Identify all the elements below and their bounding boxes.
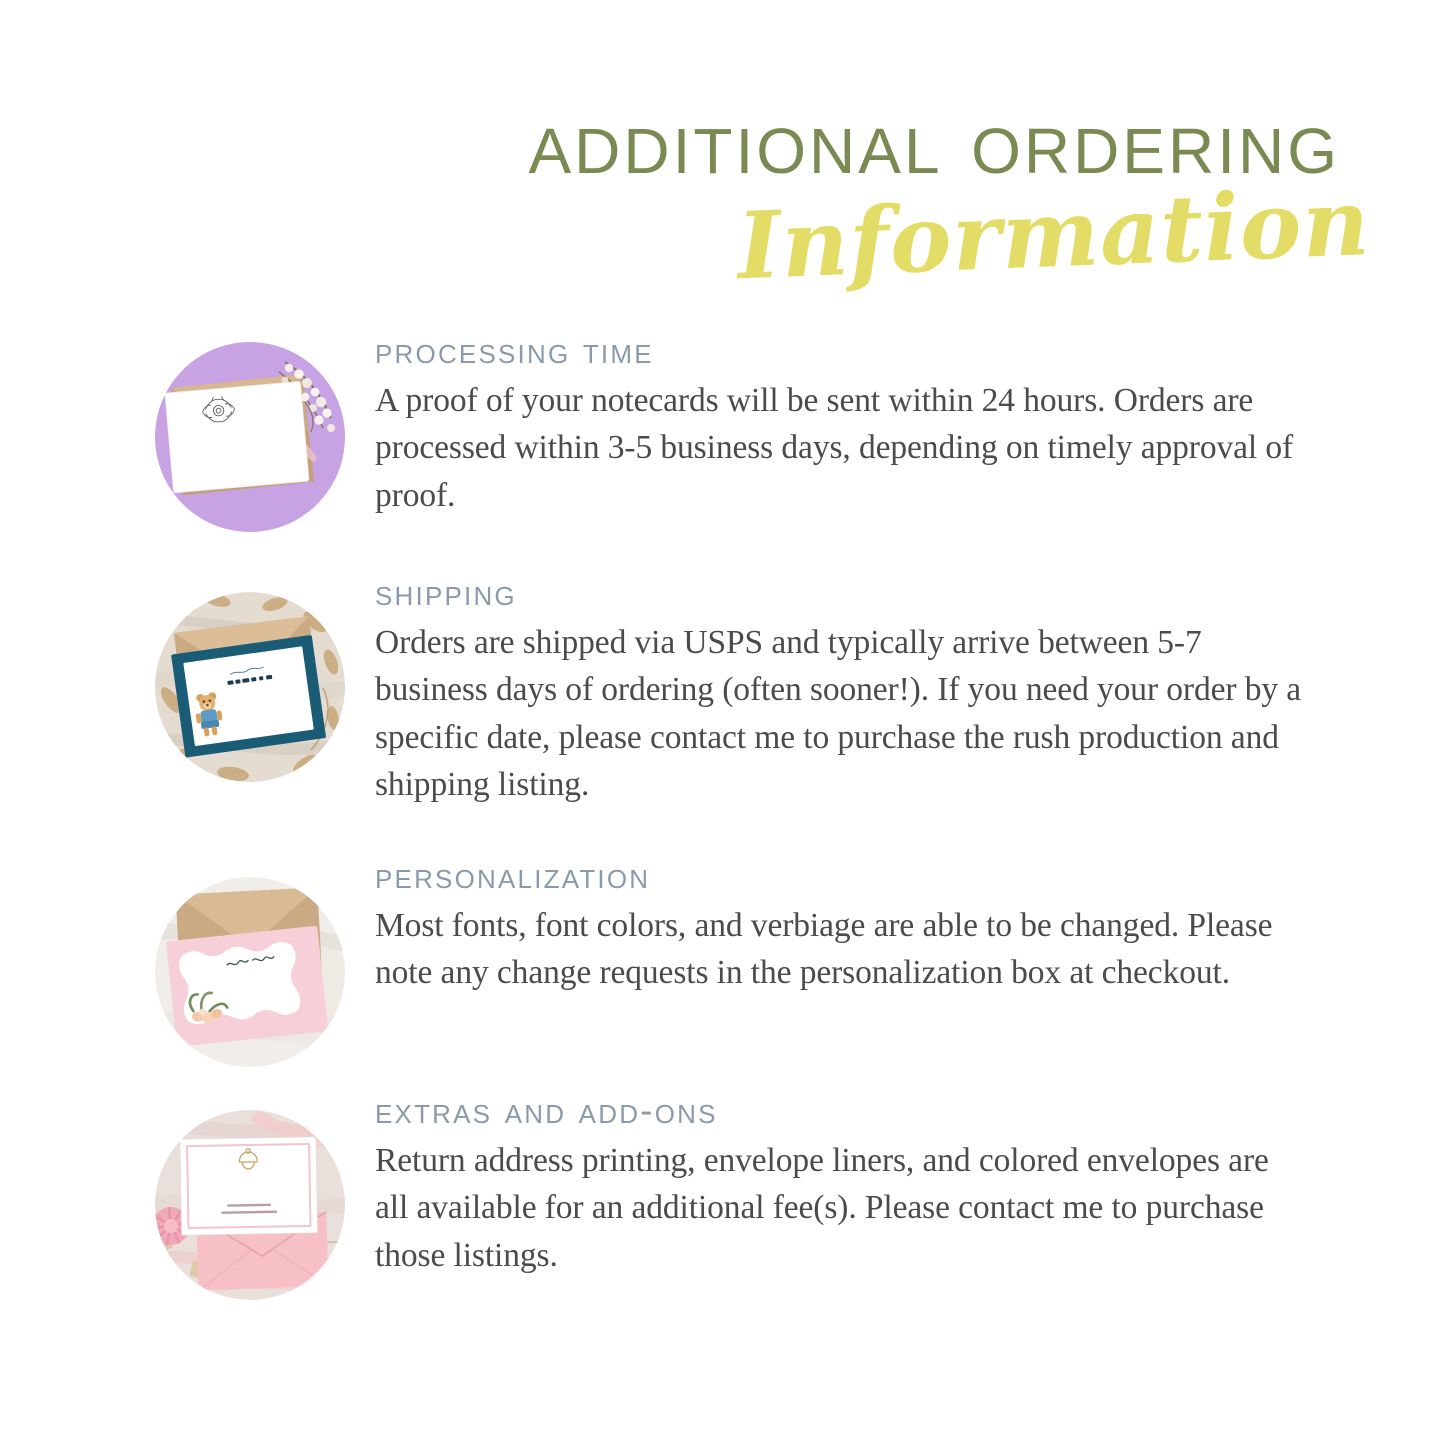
section-heading: Processing Time bbox=[375, 330, 1305, 373]
section-text: Most fonts, font colors, and verbiage ar… bbox=[375, 902, 1305, 997]
title-script-text: Information bbox=[735, 168, 1372, 300]
title-main-text: Additional Ordering bbox=[0, 96, 1340, 190]
lavender-notecard-photo-icon bbox=[155, 342, 345, 532]
section-body: Shipping Orders are shipped via USPS and… bbox=[375, 572, 1305, 809]
section-text: Orders are shipped via USPS and typicall… bbox=[375, 619, 1305, 809]
section-text: A proof of your notecards will be sent w… bbox=[375, 377, 1305, 520]
section-heading: Extras and Add-Ons bbox=[375, 1090, 1305, 1133]
teddy-bear-notecard-photo-icon bbox=[155, 592, 345, 782]
pink-envelope-notecard-photo-icon bbox=[155, 1110, 345, 1300]
ordering-information-graphic: Additional Ordering Information bbox=[0, 0, 1445, 1445]
section-heading: Shipping bbox=[375, 572, 1305, 615]
section-text: Return address printing, envelope liners… bbox=[375, 1137, 1305, 1280]
page-title: Additional Ordering Information bbox=[0, 96, 1445, 306]
section-body: Personalization Most fonts, font colors,… bbox=[375, 855, 1305, 997]
section-body: Processing Time A proof of your notecard… bbox=[375, 330, 1305, 519]
pink-scallop-notecard-photo-icon bbox=[155, 877, 345, 1067]
section-heading: Personalization bbox=[375, 855, 1305, 898]
section-body: Extras and Add-Ons Return address printi… bbox=[375, 1090, 1305, 1279]
